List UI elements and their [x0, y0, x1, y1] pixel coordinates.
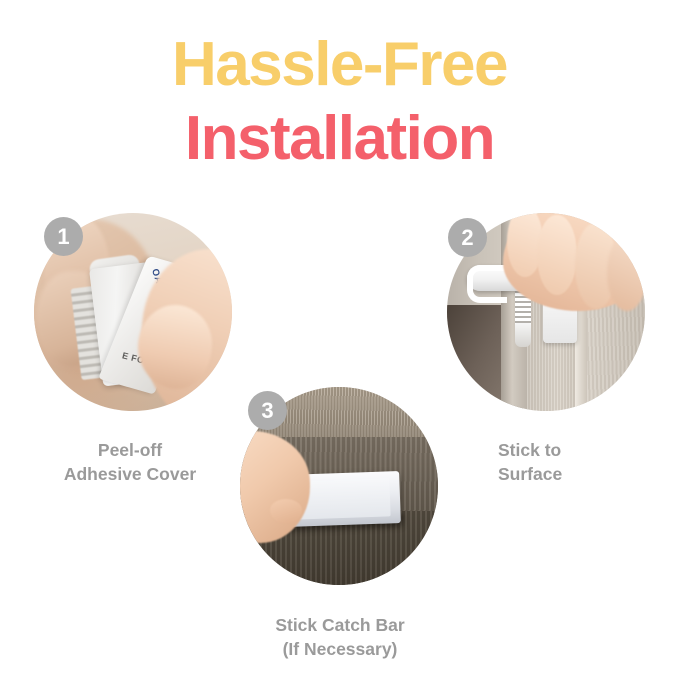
step-3-caption: Stick Catch Bar (If Necessary) [230, 613, 450, 661]
thumb-right [138, 305, 212, 389]
lock-hook [467, 265, 507, 303]
step-2-caption: Stick to Surface [498, 438, 679, 486]
finger-4 [607, 235, 645, 311]
step-3-badge: 3 [248, 391, 287, 430]
step-1-badge: 1 [44, 217, 83, 256]
installation-infographic: Hassle-Free Installation OAM E FO 1 Pee [0, 0, 679, 679]
step-2-badge: 2 [448, 218, 487, 257]
step-1-caption: Peel-off Adhesive Cover [0, 438, 260, 486]
title-line-hassle-free: Hassle-Free [0, 34, 679, 96]
lock-post [515, 323, 531, 347]
title-line-installation: Installation [0, 108, 679, 170]
finger-2 [537, 215, 577, 295]
page-title: Hassle-Free Installation [0, 34, 679, 170]
thumbnail [270, 499, 302, 523]
